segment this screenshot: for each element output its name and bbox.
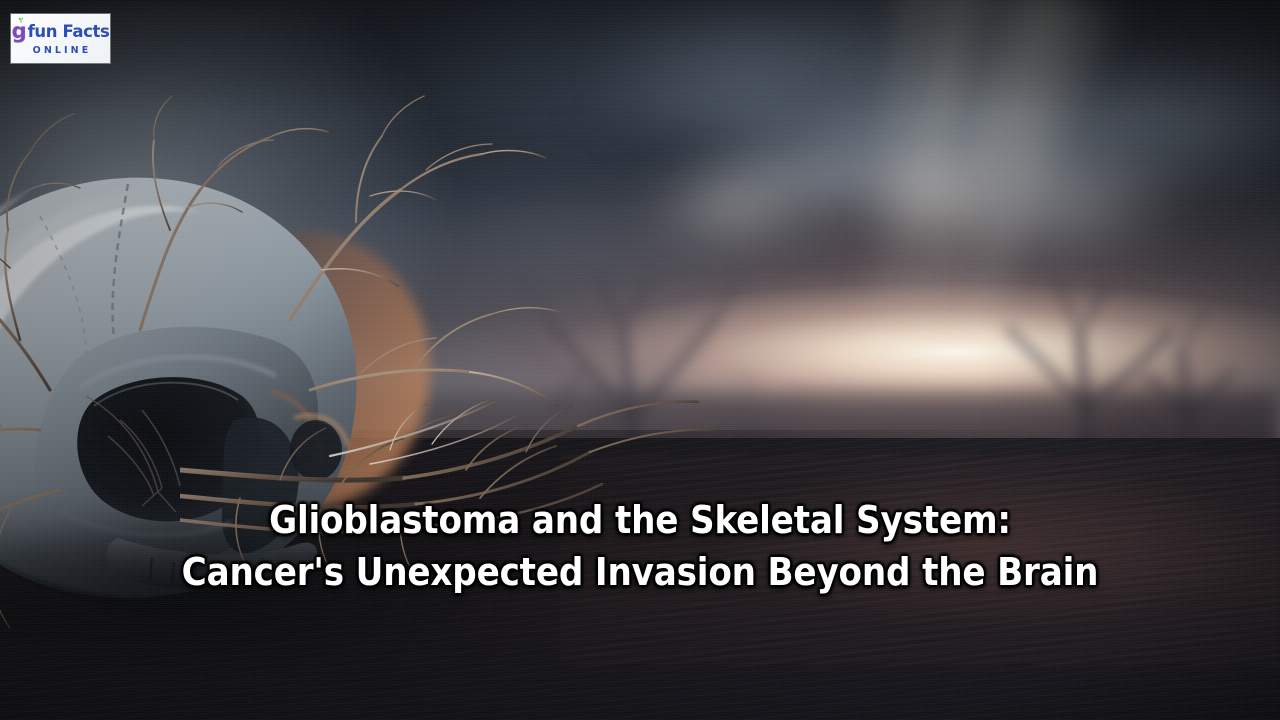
logo-monogram: g	[12, 21, 27, 42]
logo-wordmark-row: g fun Facts	[12, 21, 110, 42]
foreground-roots	[180, 400, 880, 680]
logo-subtitle: ONLINE	[33, 46, 92, 56]
hero-image-canvas: g fun Facts ONLINE Glioblastoma and the …	[0, 0, 1280, 720]
logo-wordmark: fun Facts	[28, 24, 110, 41]
sprout-icon	[18, 17, 24, 23]
site-logo-badge[interactable]: g fun Facts ONLINE	[11, 14, 110, 63]
